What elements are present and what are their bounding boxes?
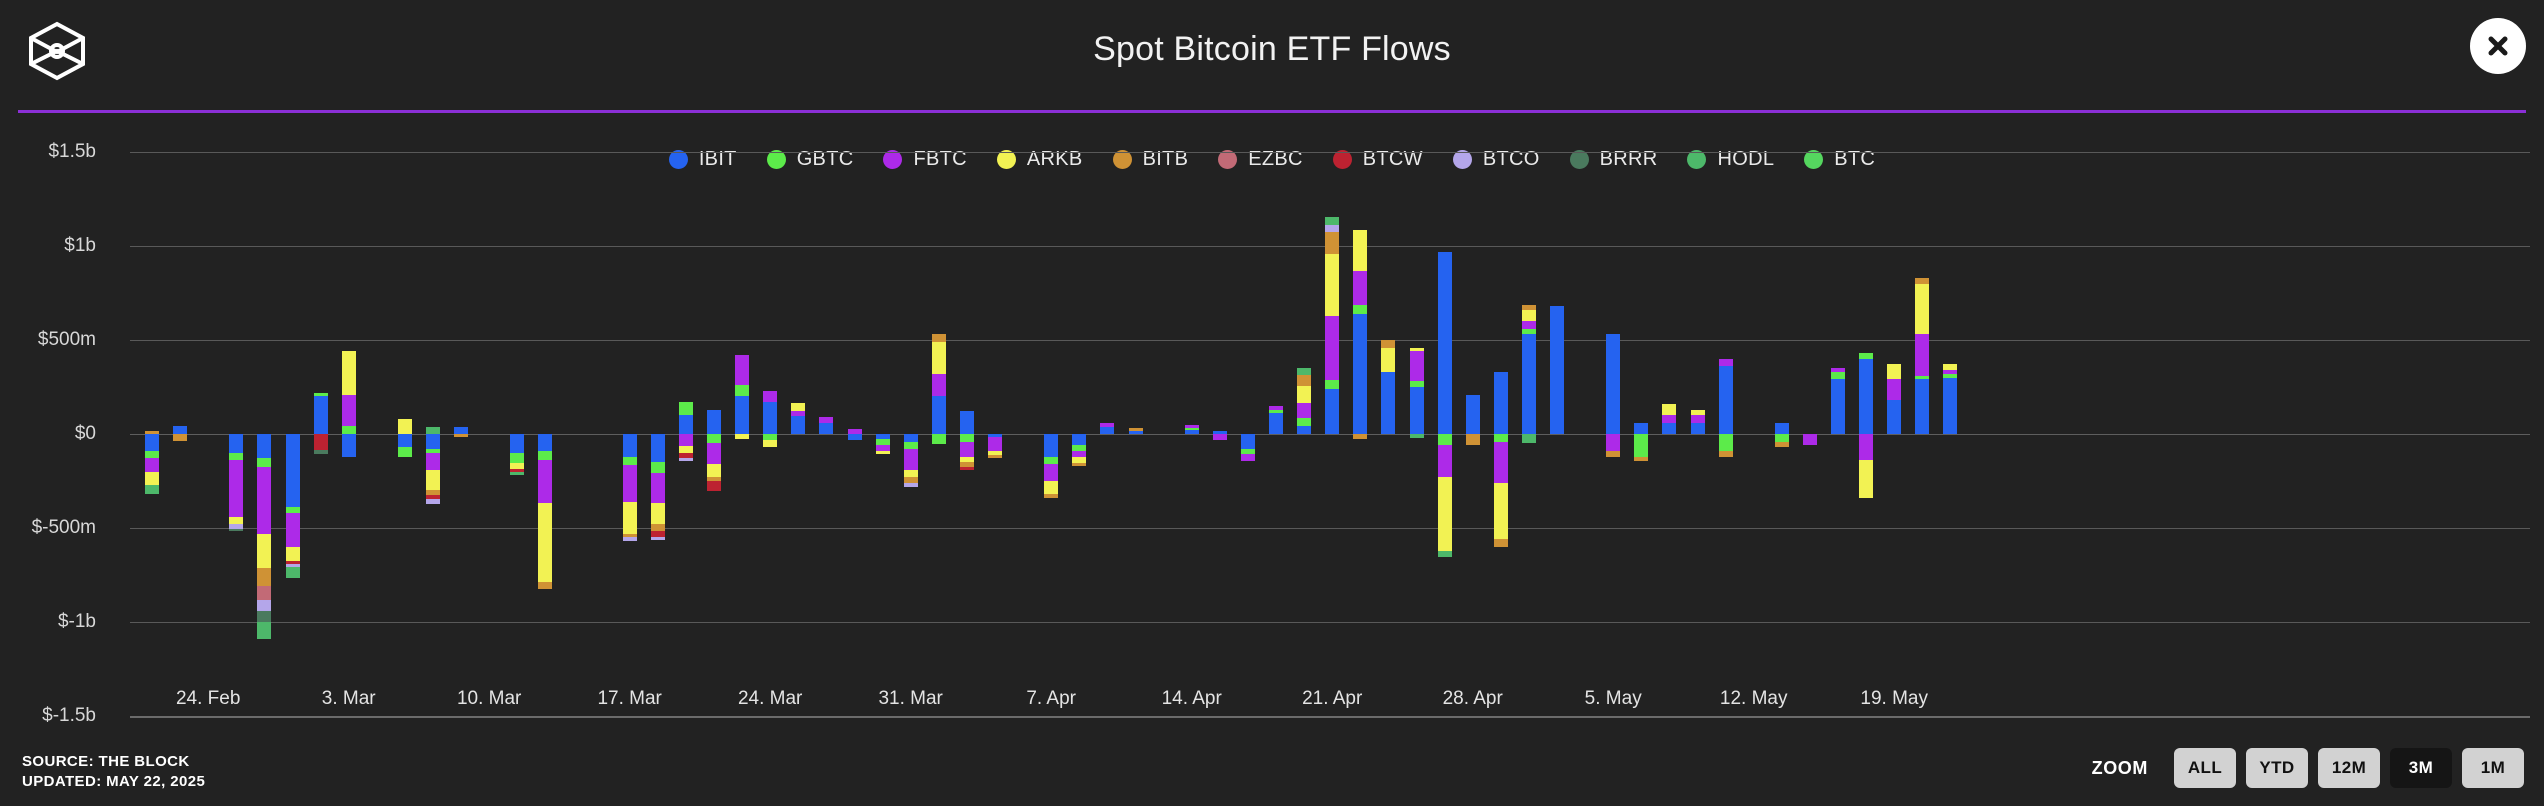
- bar-segment-ibit: [426, 434, 440, 449]
- bar-column[interactable]: [1100, 0, 1114, 806]
- bar-segment-ibit: [1100, 427, 1114, 434]
- bar-segment-btco: [1325, 225, 1339, 232]
- bar-column[interactable]: [1747, 0, 1761, 806]
- bar-segment-btco: [651, 537, 665, 540]
- bar-column[interactable]: [1634, 0, 1648, 806]
- bar-segment-ibit: [257, 434, 271, 458]
- bar-segment-ibit: [145, 434, 159, 451]
- bar-segment-fbtc: [735, 355, 749, 385]
- bar-column[interactable]: [623, 0, 637, 806]
- bar-segment-ibit: [398, 434, 412, 447]
- bar-segment-gbtc: [932, 434, 946, 444]
- bar-segment-fbtc: [679, 434, 693, 446]
- bar-column[interactable]: [370, 0, 384, 806]
- bar-segment-ibit: [1297, 426, 1311, 434]
- bar-segment-gbtc: [1915, 376, 1929, 380]
- bar-segment-bitb: [1775, 442, 1789, 448]
- bar-column[interactable]: [763, 0, 777, 806]
- bar-segment-hodl: [145, 485, 159, 494]
- bar-segment-gbtc: [342, 426, 356, 434]
- bar-segment-arkb: [1662, 404, 1676, 415]
- footer-attribution: SOURCE: THE BLOCK UPDATED: MAY 22, 2025: [22, 752, 205, 792]
- zoom-button-12m[interactable]: 12M: [2318, 748, 2380, 788]
- bar-segment-ibit: [1381, 372, 1395, 434]
- bar-segment-ibit: [848, 434, 862, 440]
- bar-segment-gbtc: [1438, 434, 1452, 445]
- bar-segment-hodl: [1297, 368, 1311, 376]
- bar-segment-bitb: [1915, 278, 1929, 284]
- bar-segment-arkb: [735, 434, 749, 439]
- bar-segment-arkb: [398, 419, 412, 434]
- bar-column[interactable]: [1606, 0, 1620, 806]
- bar-segment-fbtc: [1185, 425, 1199, 428]
- bar-column[interactable]: [1353, 0, 1367, 806]
- bar-segment-gbtc: [314, 393, 328, 397]
- bar-column[interactable]: [1269, 0, 1283, 806]
- zoom-controls: ZOOM ALLYTD12M3M1M: [2092, 748, 2524, 788]
- bar-segment-bitb: [538, 582, 552, 590]
- bar-column[interactable]: [735, 0, 749, 806]
- bar-column[interactable]: [538, 0, 552, 806]
- bar-segment-arkb: [1297, 386, 1311, 403]
- bar-column[interactable]: [1719, 0, 1733, 806]
- bar-segment-ibit: [1691, 423, 1705, 434]
- bar-segment-ibit: [1129, 431, 1143, 434]
- bar-segment-ibit: [1494, 372, 1508, 434]
- bar-segment-ibit: [819, 423, 833, 434]
- bar-segment-arkb: [257, 534, 271, 568]
- bar-column[interactable]: [1072, 0, 1086, 806]
- bar-segment-arkb: [1691, 410, 1705, 416]
- bar-segment-ezbc: [257, 586, 271, 600]
- bar-segment-gbtc: [904, 442, 918, 450]
- bar-segment-arkb: [651, 503, 665, 524]
- bar-segment-ibit: [342, 434, 356, 457]
- bar-segment-arkb: [791, 403, 805, 411]
- bar-column[interactable]: [1466, 0, 1480, 806]
- bar-segment-btco: [623, 537, 637, 541]
- chart-page: Spot Bitcoin ETF Flows IBITGBTCFBTCARKBB…: [0, 0, 2544, 806]
- bar-segment-ibit: [286, 434, 300, 507]
- bar-column[interactable]: [482, 0, 496, 806]
- zoom-button-ytd[interactable]: YTD: [2246, 748, 2308, 788]
- bar-segment-arkb: [1859, 460, 1873, 498]
- bar-column[interactable]: [1550, 0, 1564, 806]
- bar-segment-ibit: [1466, 395, 1480, 434]
- bar-segment-arkb: [1381, 348, 1395, 372]
- bar-segment-fbtc: [651, 473, 665, 503]
- bar-segment-hodl: [1410, 434, 1424, 438]
- bar-segment-fbtc: [426, 453, 440, 470]
- bar-segment-arkb: [904, 470, 918, 478]
- bar-column[interactable]: [1662, 0, 1676, 806]
- bar-segment-fbtc: [763, 391, 777, 402]
- bar-segment-arkb: [145, 472, 159, 486]
- bar-segment-brrr: [314, 450, 328, 454]
- bar-segment-ibit: [1072, 434, 1086, 445]
- bar-segment-fbtc: [229, 460, 243, 516]
- bar-segment-fbtc: [1943, 370, 1957, 374]
- bar-segment-fbtc: [538, 460, 552, 503]
- bar-segment-bitb: [145, 431, 159, 434]
- bar-segment-gbtc: [1859, 353, 1873, 359]
- bar-column[interactable]: [454, 0, 468, 806]
- bar-column[interactable]: [1297, 0, 1311, 806]
- bar-segment-ibit: [1269, 413, 1283, 434]
- bar-segment-ibit: [510, 434, 524, 453]
- bar-segment-arkb: [538, 503, 552, 582]
- bar-segment-bitb: [1522, 305, 1536, 310]
- bar-segment-gbtc: [538, 451, 552, 460]
- bar-segment-arkb: [1353, 230, 1367, 271]
- bar-segment-bitb: [1494, 539, 1508, 547]
- bar-segment-ibit: [1522, 334, 1536, 434]
- bar-segment-ibit: [1831, 379, 1845, 434]
- bar-segment-gbtc: [1943, 374, 1957, 378]
- bar-segment-fbtc: [1213, 434, 1227, 440]
- bar-segment-fbtc: [1269, 406, 1283, 410]
- bar-segment-fbtc: [1438, 445, 1452, 477]
- bar-segment-bitb: [1297, 375, 1311, 386]
- bar-segment-gbtc: [1297, 418, 1311, 427]
- bar-column[interactable]: [1129, 0, 1143, 806]
- bar-segment-arkb: [876, 451, 890, 454]
- bar-column[interactable]: [1915, 0, 1929, 806]
- bar-segment-arkb: [763, 440, 777, 447]
- bar-column[interactable]: [707, 0, 721, 806]
- bar-segment-fbtc: [1297, 403, 1311, 418]
- bar-segment-bitb: [988, 455, 1002, 458]
- bar-segment-btcw: [960, 467, 974, 470]
- bar-column[interactable]: [1578, 0, 1592, 806]
- bar-segment-gbtc: [1719, 434, 1733, 451]
- bar-column[interactable]: [1157, 0, 1171, 806]
- bar-segment-ibit: [932, 396, 946, 434]
- bar-column[interactable]: [1831, 0, 1845, 806]
- bar-segment-gbtc: [1494, 434, 1508, 442]
- bar-segment-fbtc: [1719, 359, 1733, 367]
- bar-segment-ibit: [1634, 423, 1648, 434]
- bar-segment-bitb: [1719, 451, 1733, 457]
- bar-segment-ibit: [763, 402, 777, 434]
- bar-segment-fbtc: [1100, 423, 1114, 427]
- bar-column[interactable]: [1044, 0, 1058, 806]
- bar-column[interactable]: [904, 0, 918, 806]
- bar-segment-bitb: [1466, 434, 1480, 445]
- bar-segment-arkb: [679, 446, 693, 453]
- bar-column[interactable]: [1943, 0, 1957, 806]
- bar-segment-gbtc: [1775, 434, 1789, 442]
- bar-segment-fbtc: [707, 443, 721, 464]
- bar-segment-fbtc: [1831, 368, 1845, 372]
- bars-layer: [0, 0, 2544, 806]
- bar-segment-gbtc: [679, 402, 693, 416]
- bar-column[interactable]: [145, 0, 159, 806]
- bar-segment-arkb: [1325, 254, 1339, 316]
- bar-segment-gbtc: [1044, 457, 1058, 465]
- bar-segment-ibit: [623, 434, 637, 457]
- bar-segment-arkb: [1943, 364, 1957, 370]
- bar-segment-ibit: [229, 434, 243, 453]
- bar-segment-hodl: [257, 622, 271, 639]
- bar-segment-ibit: [314, 396, 328, 434]
- bar-column[interactable]: [819, 0, 833, 806]
- bar-segment-bitb: [1634, 457, 1648, 462]
- bar-segment-gbtc: [257, 458, 271, 466]
- bar-column[interactable]: [314, 0, 328, 806]
- bar-segment-ibit: [1943, 378, 1957, 434]
- bar-column[interactable]: [1887, 0, 1901, 806]
- bar-segment-gbtc: [510, 453, 524, 463]
- bar-column[interactable]: [201, 0, 215, 806]
- bar-column[interactable]: [1325, 0, 1339, 806]
- bar-segment-ibit: [960, 411, 974, 434]
- bar-segment-ibit: [1044, 434, 1058, 457]
- bar-segment-arkb: [1887, 364, 1901, 379]
- bar-segment-bitb: [1044, 494, 1058, 498]
- bar-column[interactable]: [1381, 0, 1395, 806]
- bar-segment-fbtc: [623, 465, 637, 503]
- bar-column[interactable]: [876, 0, 890, 806]
- bar-segment-gbtc: [398, 447, 412, 457]
- bar-column[interactable]: [1691, 0, 1705, 806]
- bar-segment-ibit: [1241, 434, 1255, 449]
- bar-segment-gbtc: [707, 434, 721, 443]
- bar-segment-hodl: [1522, 434, 1536, 443]
- bar-segment-fbtc: [1410, 351, 1424, 381]
- bar-column[interactable]: [1241, 0, 1255, 806]
- bar-segment-arkb: [342, 351, 356, 394]
- bar-segment-fbtc: [876, 445, 890, 452]
- bar-column[interactable]: [257, 0, 271, 806]
- bar-segment-fbtc: [342, 395, 356, 427]
- bar-segment-gbtc: [1831, 372, 1845, 380]
- bar-segment-arkb: [1915, 284, 1929, 335]
- zoom-label: ZOOM: [2092, 758, 2148, 779]
- bar-segment-hodl: [286, 567, 300, 579]
- bar-segment-ibit: [791, 416, 805, 434]
- bar-column[interactable]: [1213, 0, 1227, 806]
- bar-segment-fbtc: [1803, 434, 1817, 445]
- bar-segment-ibit: [1410, 387, 1424, 434]
- updated-text: UPDATED: MAY 22, 2025: [22, 772, 205, 792]
- bar-segment-arkb: [707, 464, 721, 477]
- bar-segment-gbtc: [1634, 434, 1648, 457]
- bar-segment-bitb: [257, 568, 271, 585]
- source-text: SOURCE: THE BLOCK: [22, 752, 205, 772]
- bar-segment-ibit: [1887, 400, 1901, 434]
- bar-column[interactable]: [567, 0, 581, 806]
- bar-segment-fbtc: [848, 429, 862, 434]
- bar-segment-gbtc: [960, 434, 974, 442]
- bar-segment-fbtc: [904, 449, 918, 470]
- bar-segment-fbtc: [960, 442, 974, 457]
- bar-segment-fbtc: [1325, 316, 1339, 380]
- bar-segment-fbtc: [286, 513, 300, 547]
- bar-segment-btcw: [707, 481, 721, 490]
- bar-segment-ibit: [1606, 334, 1620, 434]
- bar-segment-arkb: [1494, 483, 1508, 539]
- bar-segment-ibit: [454, 427, 468, 434]
- bar-segment-bitb: [1381, 340, 1395, 348]
- bar-segment-arkb: [1410, 348, 1424, 351]
- bar-segment-bitb: [1129, 428, 1143, 431]
- bar-segment-fbtc: [1241, 454, 1255, 462]
- bar-column[interactable]: [1803, 0, 1817, 806]
- bar-column[interactable]: [173, 0, 187, 806]
- bar-segment-bitb: [454, 434, 468, 437]
- bar-segment-fbtc: [819, 417, 833, 423]
- bar-segment-fbtc: [1522, 321, 1536, 329]
- bar-segment-fbtc: [1859, 434, 1873, 460]
- bar-segment-ibit: [1915, 379, 1929, 434]
- bar-column[interactable]: [988, 0, 1002, 806]
- bar-segment-gbtc: [1325, 380, 1339, 389]
- bar-segment-ibit: [538, 434, 552, 451]
- bar-segment-ibit: [1775, 423, 1789, 434]
- bar-column[interactable]: [1438, 0, 1452, 806]
- bar-segment-brrr: [257, 611, 271, 622]
- bar-segment-ibit: [707, 410, 721, 434]
- bar-segment-gbtc: [1353, 305, 1367, 314]
- bar-segment-bitb: [1325, 232, 1339, 255]
- bar-segment-fbtc: [1072, 451, 1086, 458]
- bar-column[interactable]: [1859, 0, 1873, 806]
- bar-column[interactable]: [342, 0, 356, 806]
- bar-segment-ibit: [173, 426, 187, 434]
- bar-column[interactable]: [651, 0, 665, 806]
- bar-segment-arkb: [623, 502, 637, 534]
- bar-segment-ibit: [679, 415, 693, 434]
- bar-segment-hodl: [1438, 551, 1452, 558]
- bar-column[interactable]: [1410, 0, 1424, 806]
- bar-segment-gbtc: [735, 385, 749, 396]
- bar-segment-arkb: [426, 470, 440, 491]
- bar-segment-fbtc: [791, 411, 805, 416]
- bar-segment-hodl: [1325, 217, 1339, 225]
- bar-segment-bitb: [173, 434, 187, 441]
- bar-column[interactable]: [398, 0, 412, 806]
- bar-segment-gbtc: [1269, 410, 1283, 414]
- bar-column[interactable]: [595, 0, 609, 806]
- bar-column[interactable]: [848, 0, 862, 806]
- bar-segment-ibit: [1353, 314, 1367, 434]
- bar-segment-arkb: [932, 342, 946, 374]
- bar-segment-brrr: [229, 529, 243, 532]
- bar-segment-gbtc: [651, 462, 665, 473]
- bar-segment-ibit: [651, 434, 665, 462]
- bar-segment-gbtc: [1185, 428, 1199, 431]
- bar-column[interactable]: [1185, 0, 1199, 806]
- bar-segment-gbtc: [1410, 381, 1424, 387]
- bar-segment-ibit: [904, 434, 918, 442]
- bar-segment-btco: [426, 499, 440, 504]
- bar-column[interactable]: [1494, 0, 1508, 806]
- bar-segment-ibit: [1550, 306, 1564, 434]
- bar-segment-fbtc: [1606, 434, 1620, 451]
- bar-segment-hodl: [510, 472, 524, 475]
- bar-segment-fbtc: [988, 437, 1002, 450]
- bar-segment-gbtc: [145, 451, 159, 458]
- bar-segment-ibit: [1662, 423, 1676, 434]
- bar-segment-ibit: [1325, 389, 1339, 434]
- bar-segment-btcw: [314, 434, 328, 450]
- bar-segment-fbtc: [1662, 415, 1676, 423]
- bar-column[interactable]: [286, 0, 300, 806]
- bar-segment-ibit: [1185, 430, 1199, 434]
- bar-column[interactable]: [229, 0, 243, 806]
- bar-segment-bitb: [1072, 463, 1086, 466]
- bar-segment-arkb: [1044, 481, 1058, 494]
- bar-segment-fbtc: [1494, 442, 1508, 483]
- bar-segment-gbtc: [623, 457, 637, 465]
- bar-segment-gbtc: [229, 453, 243, 461]
- bar-segment-fbtc: [1044, 464, 1058, 481]
- zoom-button-1m[interactable]: 1M: [2462, 748, 2524, 788]
- bar-segment-hodl: [426, 427, 440, 434]
- bar-segment-gbtc: [1522, 329, 1536, 335]
- zoom-button-all[interactable]: ALL: [2174, 748, 2236, 788]
- bar-segment-bitb: [932, 334, 946, 342]
- bar-column[interactable]: [679, 0, 693, 806]
- bar-segment-btco: [257, 600, 271, 611]
- bar-column[interactable]: [426, 0, 440, 806]
- bar-segment-ibit: [1719, 366, 1733, 434]
- bar-segment-arkb: [1438, 477, 1452, 550]
- bar-segment-arkb: [229, 517, 243, 525]
- bar-segment-arkb: [1522, 310, 1536, 321]
- bar-segment-fbtc: [932, 374, 946, 397]
- bar-column[interactable]: [932, 0, 946, 806]
- bar-segment-bitb: [651, 524, 665, 531]
- bar-column[interactable]: [791, 0, 805, 806]
- bar-segment-ibit: [1859, 359, 1873, 434]
- bar-segment-btco: [904, 483, 918, 487]
- zoom-button-3m[interactable]: 3M: [2390, 748, 2452, 788]
- bar-segment-fbtc: [145, 458, 159, 472]
- bar-segment-ibit: [1438, 252, 1452, 434]
- bar-segment-fbtc: [1915, 334, 1929, 375]
- bar-segment-fbtc: [1691, 415, 1705, 423]
- bar-column[interactable]: [510, 0, 524, 806]
- bar-segment-ibit: [735, 396, 749, 434]
- bar-segment-fbtc: [257, 467, 271, 535]
- bar-segment-bitb: [1353, 434, 1367, 439]
- bar-segment-fbtc: [1887, 379, 1901, 400]
- bar-column[interactable]: [1522, 0, 1536, 806]
- bar-segment-btco: [679, 458, 693, 461]
- bar-column[interactable]: [1775, 0, 1789, 806]
- bar-segment-bitb: [1606, 451, 1620, 457]
- bar-column[interactable]: [960, 0, 974, 806]
- bar-segment-fbtc: [1353, 271, 1367, 305]
- bar-segment-arkb: [286, 547, 300, 561]
- bar-column[interactable]: [1016, 0, 1030, 806]
